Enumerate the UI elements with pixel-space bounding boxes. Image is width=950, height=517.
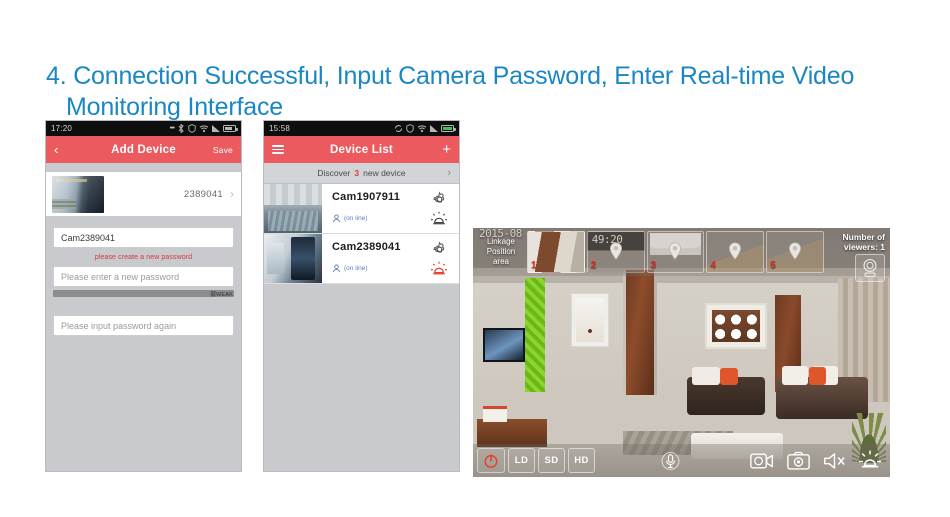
gear-icon[interactable] <box>431 241 448 258</box>
signal-icon <box>430 125 438 132</box>
linkage-position-area-label: 2015-08 Linkage Position area <box>475 231 527 273</box>
map-pin-icon <box>728 242 743 261</box>
chevron-right-icon: › <box>230 187 234 201</box>
navbar-title: Add Device <box>46 144 241 156</box>
confirm-password-placeholder: Please input password again <box>61 321 176 331</box>
spacer <box>598 448 653 473</box>
battery-icon <box>441 125 454 132</box>
map-pin-icon <box>668 242 683 261</box>
status-bar-icons: ••• <box>170 124 236 133</box>
map-pin-icon <box>788 242 803 261</box>
camera-snapshot-thumbnail <box>52 176 104 213</box>
list-item[interactable]: Cam2389041 (on line) <box>264 234 459 284</box>
password-strength-meter: 弱WEAK <box>53 290 234 297</box>
preset-position-5[interactable]: 5 <box>766 231 824 273</box>
device-status-label: (on line) <box>344 265 367 272</box>
alarm-button[interactable] <box>854 448 886 473</box>
device-info: Cam1907911 (on line) <box>322 184 419 233</box>
preset-position-1[interactable]: 1 <box>527 231 585 273</box>
chevron-right-icon: › <box>447 167 451 179</box>
page-title-line1: 4. Connection Successful, Input Camera P… <box>46 62 854 90</box>
device-status-label: (on line) <box>344 215 367 222</box>
scene-tv <box>483 328 525 362</box>
spacer <box>688 448 743 473</box>
sync-icon <box>394 124 403 133</box>
snapshot-button[interactable] <box>782 448 815 473</box>
user-icon <box>332 214 341 223</box>
scene-wall-art <box>571 293 609 347</box>
camera-snapshot-thumbnail <box>264 234 322 283</box>
shield-icon <box>188 124 196 133</box>
scene-cabinet <box>477 419 547 447</box>
camera-snapshot-thumbnail <box>264 184 322 233</box>
status-bar: 15:58 <box>264 121 459 136</box>
scene-shelf <box>705 303 767 349</box>
quality-sd-button[interactable]: SD <box>538 448 565 473</box>
preset-position-3[interactable]: 3 <box>647 231 705 273</box>
discover-count: 3 <box>354 168 359 178</box>
password-hint: please create a new password <box>46 248 241 266</box>
gear-icon[interactable] <box>431 191 448 208</box>
discover-suffix: new device <box>363 168 406 178</box>
add-device-button[interactable]: + <box>442 142 451 157</box>
viewer-count-line2: viewers: 1 <box>826 242 885 252</box>
video-timestamp: 2015-08 <box>479 229 522 239</box>
preset-number: 1 <box>531 260 537 272</box>
preset-position-4[interactable]: 4 <box>706 231 764 273</box>
device-name: Cam2389041 <box>332 241 419 253</box>
phone-screenshot-add-device: 17:20 ••• ‹ Add Device Save 2389041 › Ca… <box>45 120 242 472</box>
page-title-line2: Monitoring Interface <box>46 92 906 123</box>
save-button[interactable]: Save <box>213 145 233 155</box>
signal-icon <box>212 125 220 132</box>
alarm-bell-icon[interactable] <box>430 261 448 277</box>
quality-hd-button[interactable]: HD <box>568 448 595 473</box>
preset-number: 2 <box>591 260 597 272</box>
hamburger-menu-icon[interactable] <box>272 143 284 156</box>
microphone-button[interactable] <box>656 448 685 473</box>
preset-number: 4 <box>710 260 716 272</box>
linkage-label-line3: area <box>475 257 527 267</box>
navbar-title: Device List <box>264 144 459 156</box>
viewer-count-line1: Number of <box>826 232 885 242</box>
preset-number: 5 <box>770 260 776 272</box>
scene-door-left <box>623 270 657 395</box>
back-button[interactable]: ‹ <box>54 143 58 156</box>
discover-prefix: Discover <box>317 168 350 178</box>
bluetooth-icon <box>177 124 185 133</box>
new-password-placeholder: Please enter a new password <box>61 272 179 282</box>
preset-number: 3 <box>651 260 657 272</box>
record-video-button[interactable] <box>745 448 779 473</box>
device-status: (on line) <box>332 264 419 273</box>
battery-icon <box>223 125 236 132</box>
mute-button[interactable] <box>818 448 851 473</box>
status-bar-icons <box>394 124 454 133</box>
discover-banner[interactable]: Discover 3 new device › <box>264 163 459 184</box>
spacer <box>46 216 241 227</box>
scene-green-wall <box>525 278 545 393</box>
linkage-label-line2: Position <box>475 247 527 257</box>
list-item[interactable]: Cam1907911 (on line) <box>264 184 459 234</box>
quality-ld-button[interactable]: LD <box>508 448 535 473</box>
spacer <box>46 163 241 172</box>
power-button[interactable] <box>477 448 505 473</box>
device-name: Cam1907911 <box>332 191 419 203</box>
video-controls-bar: LD SD HD <box>473 444 890 477</box>
status-bar-time: 15:58 <box>269 124 290 133</box>
password-strength-label: 弱WEAK <box>210 292 233 298</box>
device-info: Cam2389041 (on line) <box>322 234 419 283</box>
device-row[interactable]: 2389041 › <box>46 172 241 216</box>
wifi-icon <box>199 124 209 133</box>
dots-icon: ••• <box>170 125 174 132</box>
alarm-bell-icon[interactable] <box>430 211 448 227</box>
ptz-camera-icon[interactable] <box>855 254 885 282</box>
navbar: Device List + <box>264 136 459 163</box>
device-actions <box>419 234 459 283</box>
spacer <box>46 297 241 315</box>
wifi-icon <box>417 124 427 133</box>
phone-screenshot-device-list: 15:58 Device List + Discover 3 new devic… <box>263 120 460 472</box>
map-pin-icon <box>608 242 623 261</box>
status-bar-time: 17:20 <box>51 124 72 133</box>
confirm-password-input[interactable]: Please input password again <box>53 315 234 336</box>
page-root: 4. Connection Successful, Input Camera P… <box>0 0 950 517</box>
device-actions <box>419 184 459 233</box>
navbar: ‹ Add Device Save <box>46 136 241 163</box>
scene-sofa-left <box>687 377 765 415</box>
user-icon <box>332 264 341 273</box>
device-name-input[interactable]: Cam2389041 <box>53 227 234 248</box>
shield-icon <box>406 124 414 133</box>
preset-positions-bar: 2015-08 Linkage Position area 1 49:20 2 … <box>473 228 890 276</box>
video-monitoring-panel: 2015-08 Linkage Position area 1 49:20 2 … <box>473 228 890 477</box>
new-password-input[interactable]: Please enter a new password <box>53 266 234 287</box>
device-name-value: Cam2389041 <box>61 233 115 243</box>
device-id-label: 2389041 <box>184 189 223 200</box>
preset-thumbnails: 1 49:20 2 3 4 5 <box>527 231 826 273</box>
device-status: (on line) <box>332 214 419 223</box>
status-bar: 17:20 ••• <box>46 121 241 136</box>
preset-position-2[interactable]: 49:20 2 <box>587 231 645 273</box>
